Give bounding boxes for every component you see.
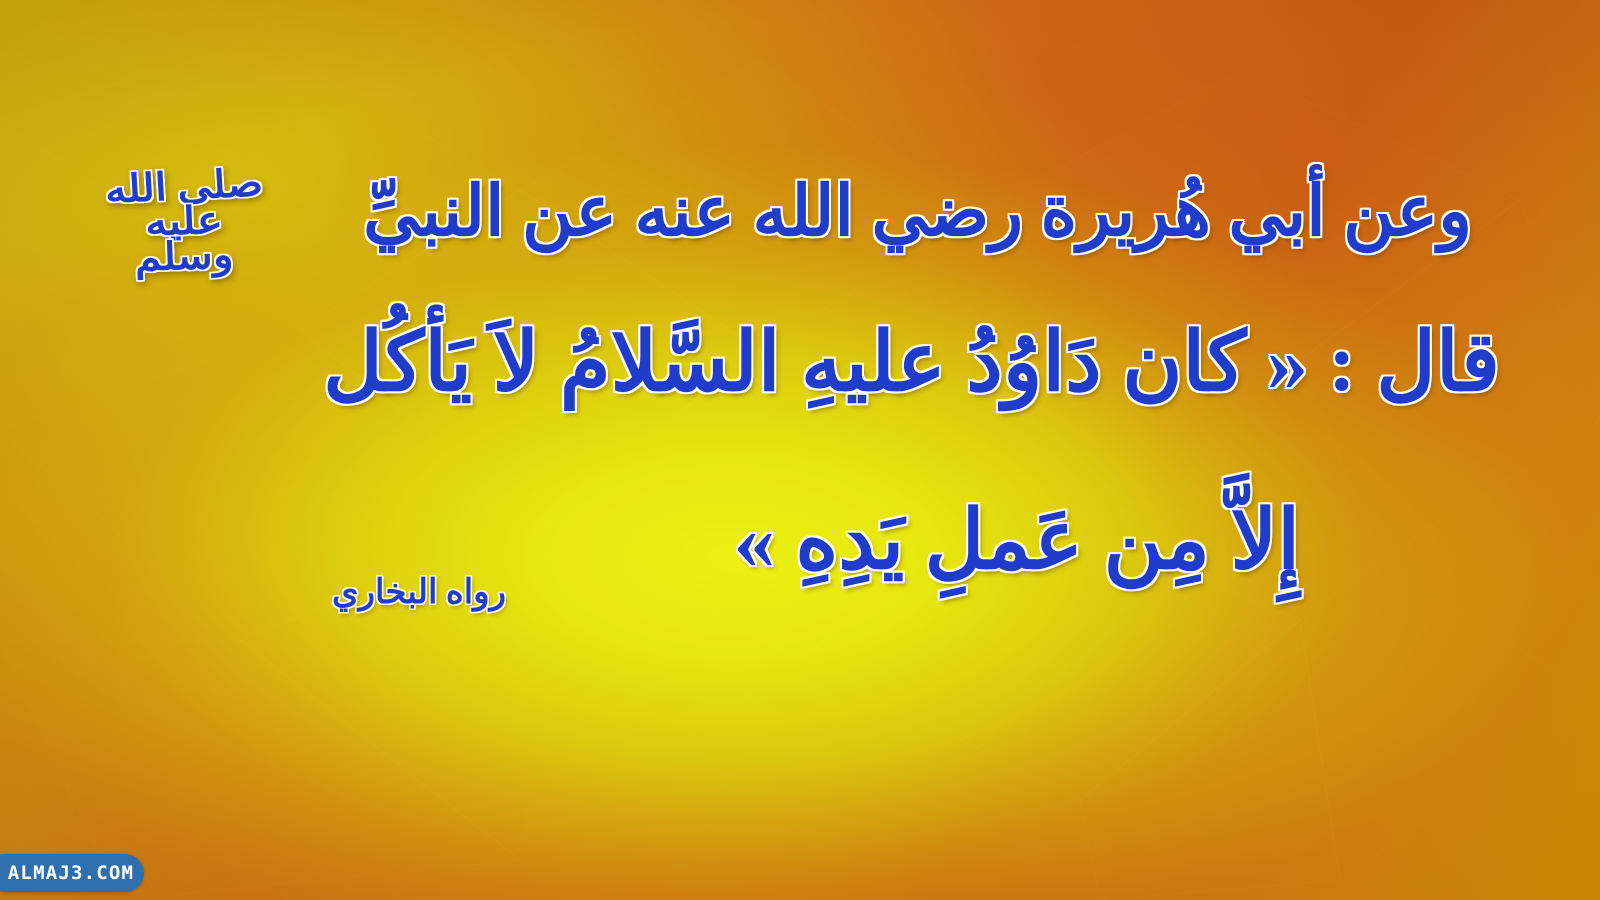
hadith-line-2: قال : «‏ كان دَاوُدُ عليهِ السَّلامُ لاَ… xyxy=(323,322,1500,404)
hadith-quote-block: وعن أبي هُريرة رضي الله عنه عن النبيِّ ق… xyxy=(0,0,1600,900)
hadith-line-1: وعن أبي هُريرة رضي الله عنه عن النبيِّ xyxy=(363,178,1472,248)
site-watermark-badge: ALMAJ3.COM xyxy=(0,854,144,892)
hadith-line-3: إِلاَّ مِن عَملِ يَدِهِ » xyxy=(734,500,1300,582)
hadith-narrator-attribution: رواه البخاري xyxy=(332,572,506,612)
watermark-label: ALMAJ3.COM xyxy=(0,862,134,884)
hadith-image-canvas: صلى الله عليه وسلم وعن أبي هُريرة رضي ال… xyxy=(0,0,1600,900)
